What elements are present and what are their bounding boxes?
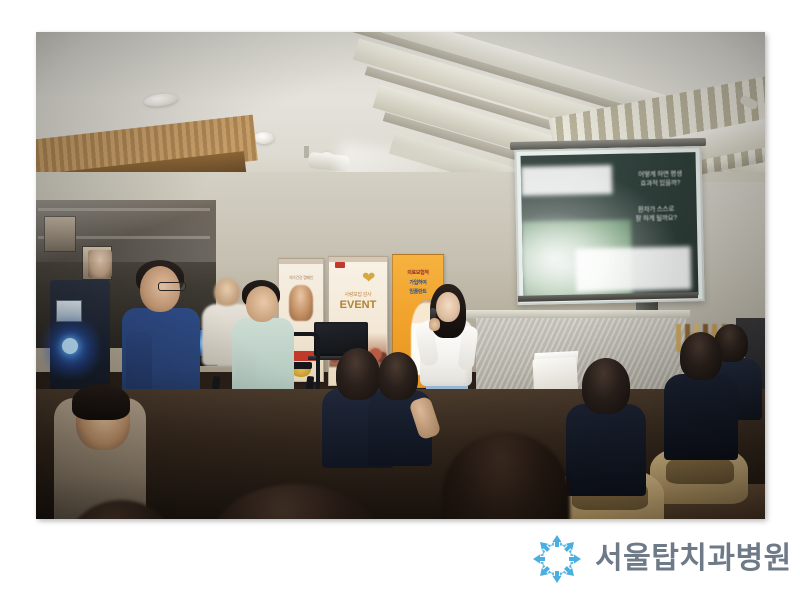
- heart-icon: ❤: [362, 271, 378, 286]
- brand-name: 서울탑치과병원: [595, 544, 792, 574]
- glasses-icon: [158, 282, 186, 291]
- banner-event-logo: [335, 262, 345, 268]
- photo-card: 어떻게 하면 평생 효과적 있을까? 환자가 스스로 잘 하게 될까요? 치아건…: [36, 32, 765, 519]
- banner-event-subtitle: 사랑보답 감사: [329, 291, 387, 298]
- projection-screen: 어떻게 하면 평생 효과적 있을까? 환자가 스스로 잘 하게 될까요?: [514, 146, 704, 305]
- banner-left-figure: [289, 285, 313, 321]
- attendee-foreground-left-hair: [72, 384, 130, 420]
- presenter-hand: [429, 318, 440, 331]
- attendee-head: [378, 352, 418, 400]
- attendee-torso: [664, 374, 738, 460]
- snowflake-hyh-logo-icon: [532, 534, 582, 584]
- attendee-head: [336, 348, 380, 400]
- ceiling-light-icon: [254, 132, 274, 144]
- attendee-head: [680, 332, 722, 380]
- attendee-head: [246, 286, 278, 322]
- attendee-head: [582, 358, 630, 414]
- kiosk-icon: [62, 338, 78, 354]
- cabinet-glass-reflection: [36, 200, 216, 262]
- event-photo: 어떻게 하면 평생 효과적 있을까? 환자가 스스로 잘 하게 될까요? 치아건…: [36, 32, 765, 519]
- banner-event-title: EVENT: [329, 299, 387, 311]
- banner-right-line2: 가입하여: [393, 279, 443, 286]
- banner-left-headline: 치아건강 캠페인: [279, 275, 323, 281]
- banner-top-bar: [279, 259, 323, 264]
- brand-logo: 서울탑치과병원: [532, 534, 792, 584]
- slide-text-line1: 어떻게 하면 평생 효과적 있을까?: [638, 169, 682, 188]
- banner-right-line1: 의료보험적: [393, 269, 443, 276]
- slide: 어떻게 하면 평생 효과적 있을까? 환자가 스스로 잘 하게 될까요?: [521, 152, 699, 299]
- attendee-torso: [566, 404, 646, 496]
- stone-texture-wall: [476, 318, 686, 392]
- attendee-head: [214, 278, 240, 306]
- slide-text-line2: 환자가 스스로 잘 하게 될까요?: [635, 205, 677, 224]
- presenter-head: [436, 292, 460, 322]
